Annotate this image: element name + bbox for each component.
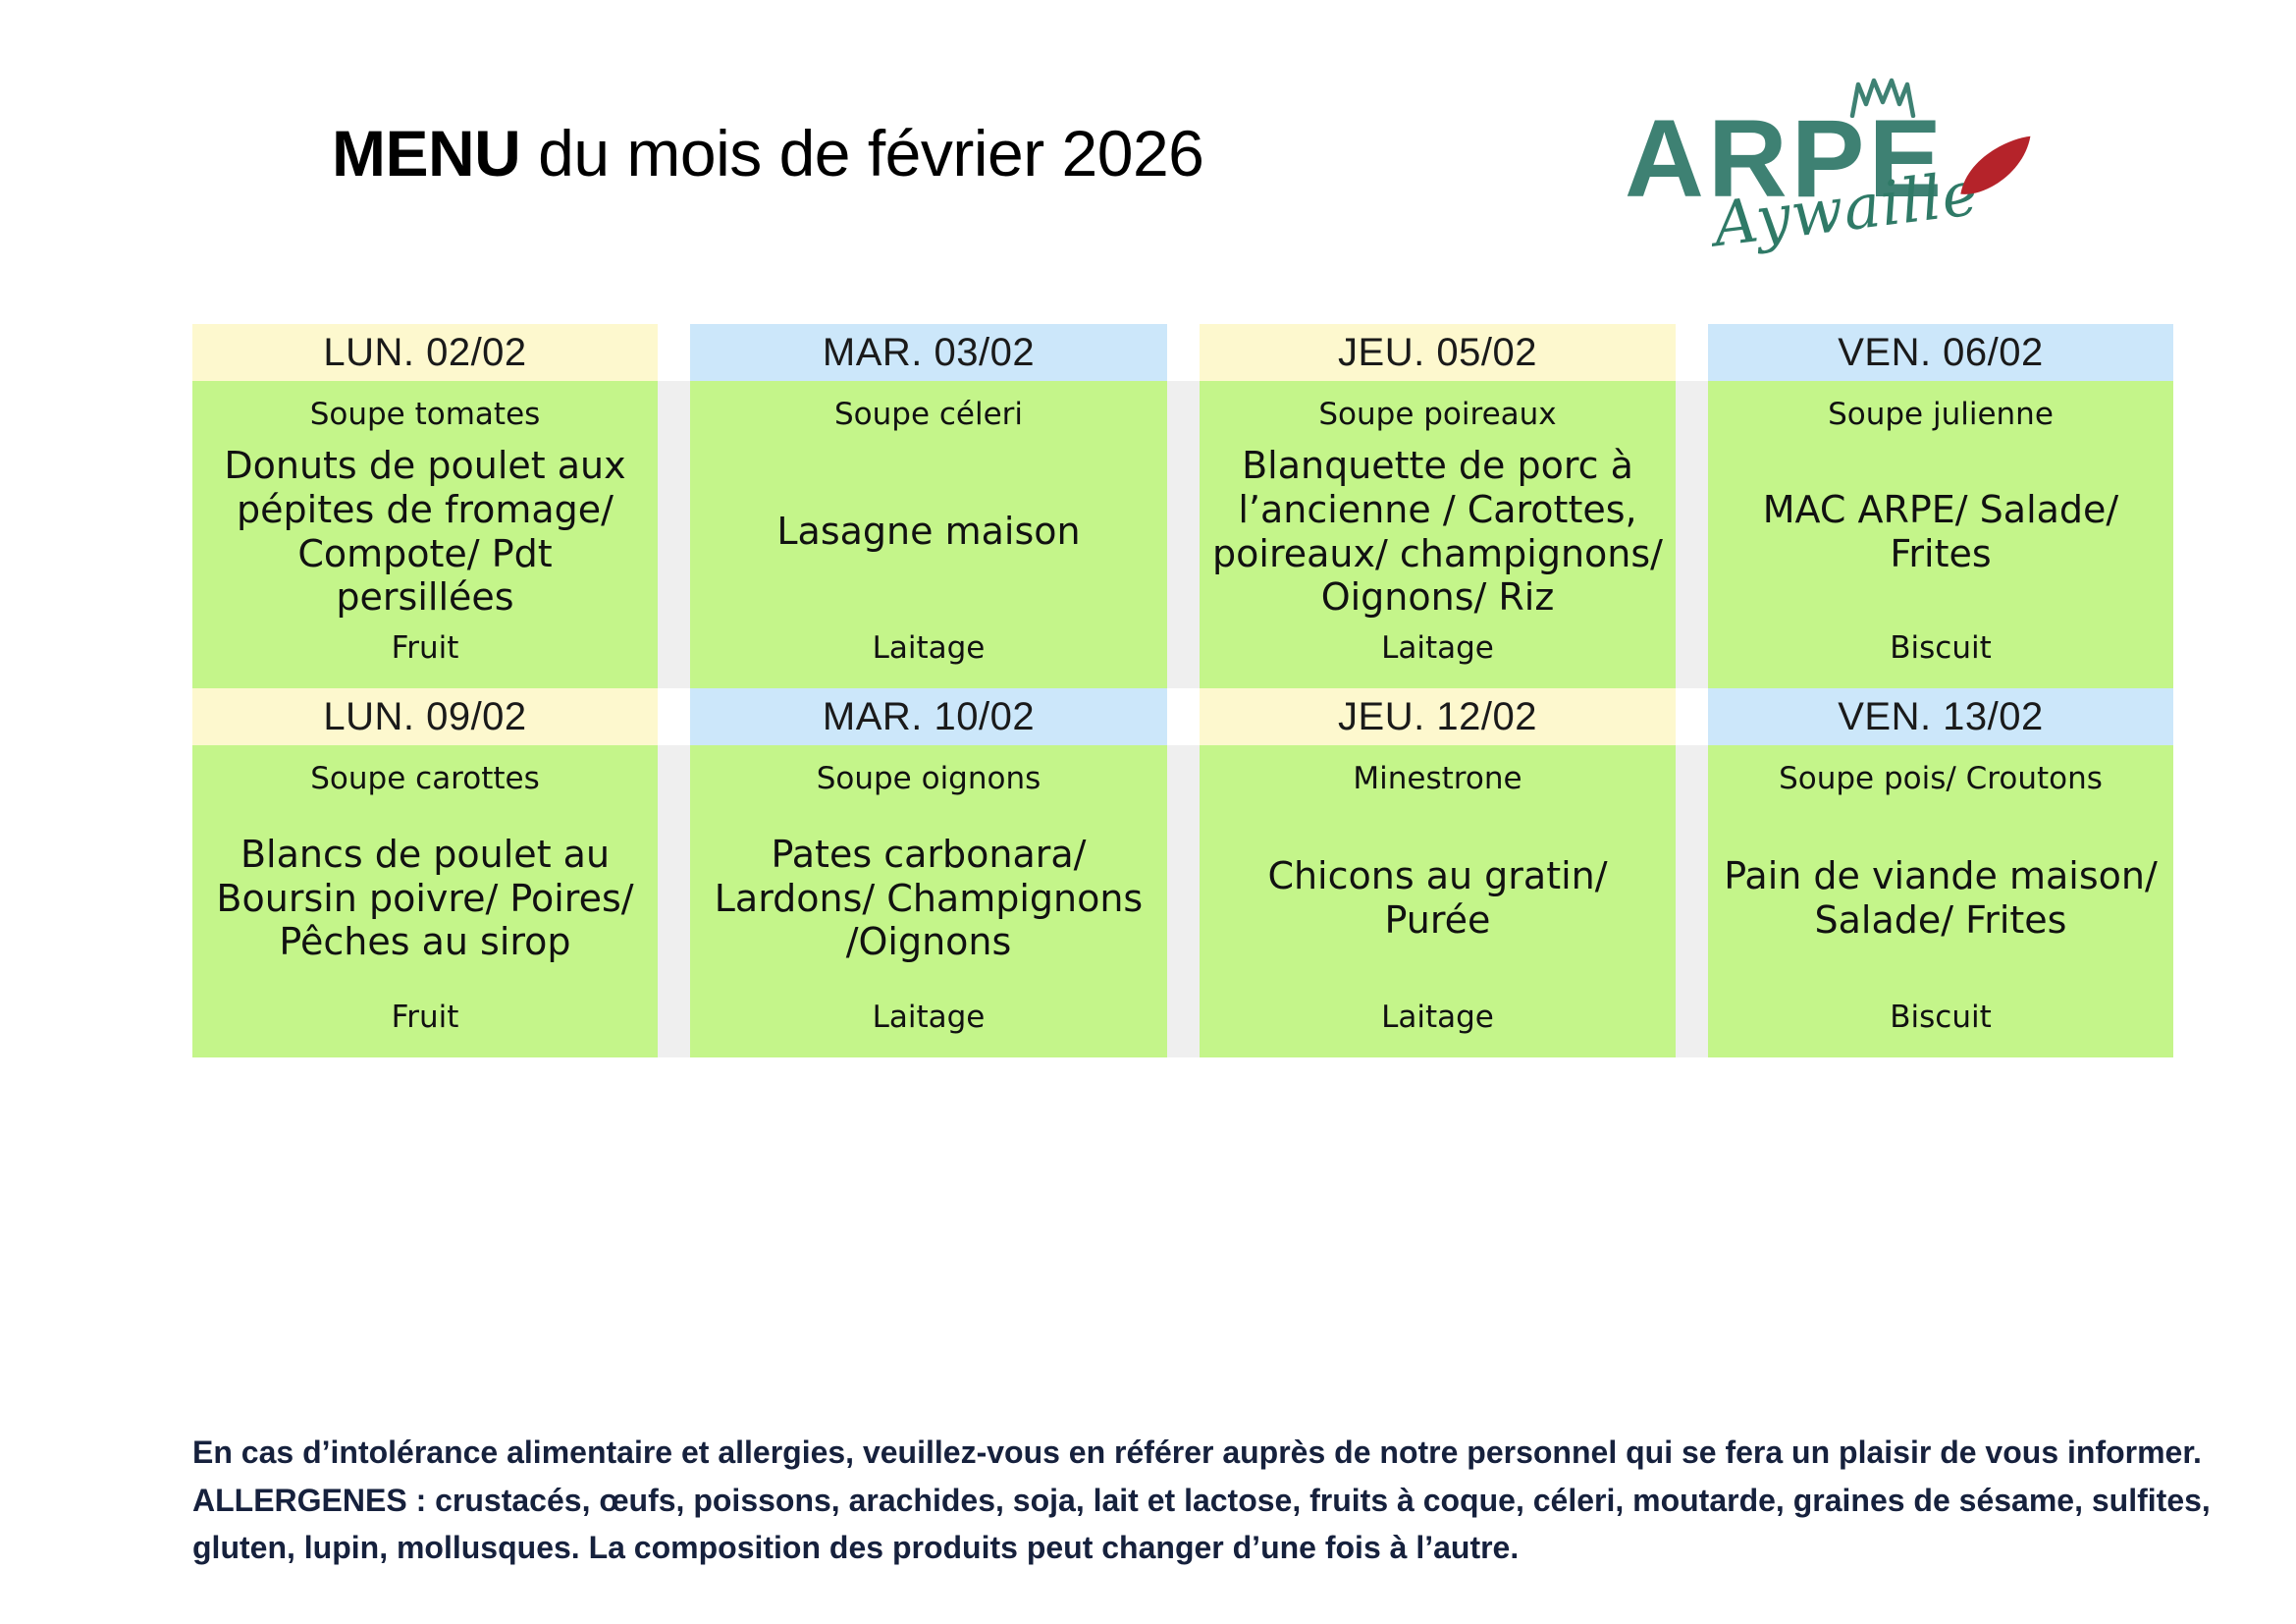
day-column-jeu-1202: JEU. 12/02 Minestrone Chicons au gratin/… <box>1200 688 1676 1057</box>
day-header-jeu-1202[interactable]: JEU. 12/02 <box>1200 688 1676 745</box>
day-column-jeu-0502: JEU. 05/02 Soupe poireaux Blanquette de … <box>1200 324 1676 688</box>
day-column-mar-1002: MAR. 10/02 Soupe oignons Pates carbonara… <box>690 688 1167 1057</box>
day-column-lun-0202: LUN. 02/02 Soupe tomates Donuts de poule… <box>192 324 658 688</box>
menu-main: Donuts de poulet aux pépites de fromage/… <box>200 444 650 620</box>
menu-dessert: Biscuit <box>1720 630 2162 667</box>
day-header-jeu-0502[interactable]: JEU. 05/02 <box>1200 324 1676 381</box>
column-gap <box>1167 688 1200 1057</box>
column-gap <box>1167 324 1200 688</box>
menu-dessert: Fruit <box>204 630 646 667</box>
menu-main: Pates carbonara/ Lardons/ Champignons /O… <box>698 833 1159 964</box>
arpe-logo: ARPE Aywaille <box>1600 47 2061 273</box>
menu-main: Blancs de poulet au Boursin poivre/ Poir… <box>200 833 650 964</box>
day-column-ven-0602: VEN. 06/02 Soupe julienne MAC ARPE/ Sala… <box>1708 324 2173 688</box>
page-title-strong: MENU <box>332 117 520 189</box>
menu-dessert: Fruit <box>204 1000 646 1036</box>
menu-main: Chicons au gratin/ Purée <box>1207 854 1668 943</box>
day-menu-ven-1302: Soupe pois/ Croutons Pain de viande mais… <box>1708 745 2173 1057</box>
column-gap <box>1676 324 1708 688</box>
allergen-notice: En cas d’intolérance alimentaire et alle… <box>192 1429 2185 1572</box>
allergen-notice-line-2: ALLERGENES : crustacés, œufs, poissons, … <box>192 1477 2185 1525</box>
menu-main: Lasagne maison <box>698 510 1159 554</box>
page-header: MENU du mois de février 2026 ARPE Aywail… <box>0 0 2296 314</box>
week-row-2: LUN. 09/02 Soupe carottes Blancs de poul… <box>192 688 2173 1057</box>
menu-dessert: Laitage <box>1211 1000 1664 1036</box>
day-menu-jeu-1202: Minestrone Chicons au gratin/ Purée Lait… <box>1200 745 1676 1057</box>
day-header-ven-1302[interactable]: VEN. 13/02 <box>1708 688 2173 745</box>
day-header-mar-0302[interactable]: MAR. 03/02 <box>690 324 1167 381</box>
week-row-1: LUN. 02/02 Soupe tomates Donuts de poule… <box>192 324 2173 688</box>
day-header-mar-1002[interactable]: MAR. 10/02 <box>690 688 1167 745</box>
day-column-lun-0902: LUN. 09/02 Soupe carottes Blancs de poul… <box>192 688 658 1057</box>
menu-soup: Soupe poireaux <box>1211 397 1664 433</box>
day-menu-mar-0302: Soupe céleri Lasagne maison Laitage <box>690 381 1167 688</box>
menu-main: Pain de viande maison/ Salade/ Frites <box>1716 854 2165 943</box>
menu-main: MAC ARPE/ Salade/ Frites <box>1716 488 2165 576</box>
menu-dessert: Biscuit <box>1720 1000 2162 1036</box>
menu-main: Blanquette de porc à l’ancienne / Carott… <box>1207 444 1668 620</box>
page-title-rest: du mois de février 2026 <box>520 117 1203 189</box>
leaf-icon <box>1947 130 2048 205</box>
day-menu-ven-0602: Soupe julienne MAC ARPE/ Salade/ Frites … <box>1708 381 2173 688</box>
menu-dessert: Laitage <box>702 630 1155 667</box>
allergen-notice-line-1: En cas d’intolérance alimentaire et alle… <box>192 1429 2185 1477</box>
menu-soup: Soupe oignons <box>702 761 1155 797</box>
menu-dessert: Laitage <box>702 1000 1155 1036</box>
day-column-ven-1302: VEN. 13/02 Soupe pois/ Croutons Pain de … <box>1708 688 2173 1057</box>
menu-soup: Soupe pois/ Croutons <box>1720 761 2162 797</box>
day-menu-jeu-0502: Soupe poireaux Blanquette de porc à l’an… <box>1200 381 1676 688</box>
menu-soup: Soupe carottes <box>204 761 646 797</box>
menu-soup: Minestrone <box>1211 761 1664 797</box>
day-menu-mar-1002: Soupe oignons Pates carbonara/ Lardons/ … <box>690 745 1167 1057</box>
menu-soup: Soupe julienne <box>1720 397 2162 433</box>
day-menu-lun-0202: Soupe tomates Donuts de poulet aux pépit… <box>192 381 658 688</box>
day-header-lun-0902[interactable]: LUN. 09/02 <box>192 688 658 745</box>
page-title: MENU du mois de février 2026 <box>332 116 1203 190</box>
day-header-ven-0602[interactable]: VEN. 06/02 <box>1708 324 2173 381</box>
allergen-notice-line-3: gluten, lupin, mollusques. La compositio… <box>192 1524 2185 1572</box>
column-gap <box>658 324 690 688</box>
day-menu-lun-0902: Soupe carottes Blancs de poulet au Bours… <box>192 745 658 1057</box>
menu-grid: LUN. 02/02 Soupe tomates Donuts de poule… <box>192 324 2173 1057</box>
day-column-mar-0302: MAR. 03/02 Soupe céleri Lasagne maison L… <box>690 324 1167 688</box>
menu-dessert: Laitage <box>1211 630 1664 667</box>
menu-soup: Soupe tomates <box>204 397 646 433</box>
column-gap <box>1676 688 1708 1057</box>
day-header-lun-0202[interactable]: LUN. 02/02 <box>192 324 658 381</box>
menu-soup: Soupe céleri <box>702 397 1155 433</box>
column-gap <box>658 688 690 1057</box>
